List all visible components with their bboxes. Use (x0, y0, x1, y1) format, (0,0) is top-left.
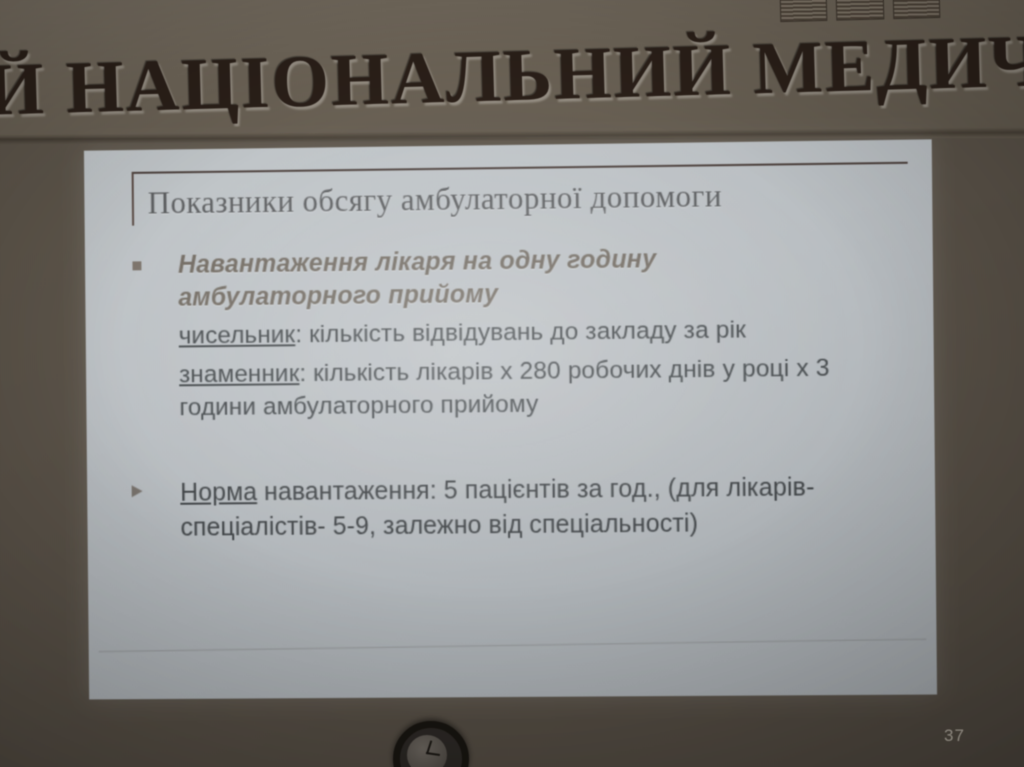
bullet-item-1: Навантаження лікаря на одну годину амбул… (124, 240, 908, 424)
norm-label: Норма (180, 478, 257, 507)
numerator-label: чисельник (179, 321, 296, 349)
bullet-1-denominator-line: знаменник: кількість лікарів х 280 робоч… (179, 352, 880, 424)
denominator-label: знаменник (179, 361, 300, 389)
norm-text: навантаження: 5 пацієнтів за год., (для … (180, 473, 814, 541)
arrow-bullet-icon (127, 476, 181, 500)
square-bullet-icon (124, 249, 178, 274)
notice-frame-icon (836, 0, 884, 21)
bullet-spacer (126, 423, 908, 476)
slide-title-box: Показники обсягу амбулаторної допомоги (132, 162, 909, 226)
bullet-1-numerator-line: чисельник: кількість відвідувань до закл… (179, 313, 880, 353)
bullet-2-norm-line: Норма навантаження: 5 пацієнтів за год.,… (180, 470, 871, 545)
numerator-text: : кількість відвідувань до закладу за рі… (295, 316, 746, 348)
notice-frame-icon (780, 0, 828, 22)
wall-notice-frames (780, 0, 941, 20)
slide-page-number: 37 (944, 726, 965, 746)
notice-frame-icon (892, 0, 940, 19)
bullet-item-2: Норма навантаження: 5 пацієнтів за год.,… (127, 469, 910, 545)
bullet-1-lead-text: Навантаження лікаря на одну годину амбул… (178, 241, 818, 313)
slide-bullet-list: Навантаження лікаря на одну годину амбул… (118, 240, 909, 545)
photo-of-projected-slide: Й НАЦІОНАЛЬНИЙ МЕДИЧН Показники обсягу а… (0, 0, 1024, 767)
projected-slide: Показники обсягу амбулаторної допомоги Н… (84, 139, 937, 699)
slide-title: Показники обсягу амбулаторної допомоги (148, 173, 788, 225)
